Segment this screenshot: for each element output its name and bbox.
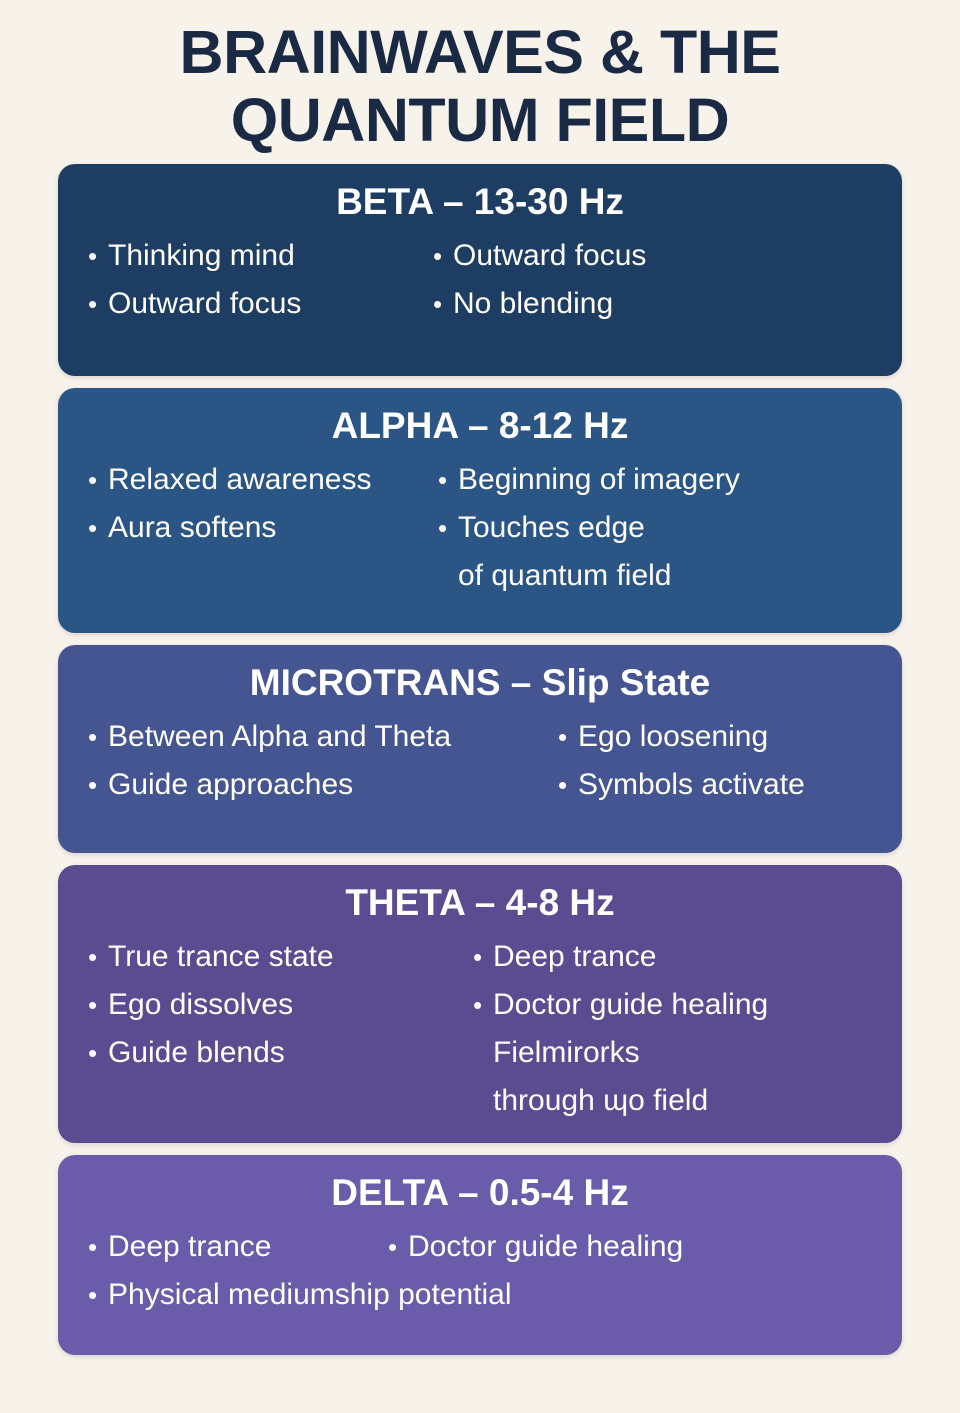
brainwave-card-alpha: ALPHA – 8-12 Hz • Relaxed awareness • Au… [58, 388, 902, 633]
bullet-icon: • [88, 761, 108, 809]
list-item-label: Guide blends [108, 1029, 473, 1077]
bullet-icon: • [558, 761, 578, 809]
infographic-root: BRAINWAVES & THE QUANTUM FIELD BETA – 13… [0, 0, 960, 1413]
card-columns-beta: • Thinking mind • Outward focus • Outwar… [70, 232, 890, 328]
card-column-right-theta: • Deep trance • Doctor guide healing Fie… [473, 933, 768, 1125]
list-item-label: Symbols activate [578, 761, 805, 809]
bullet-icon: • [433, 232, 453, 280]
bullet-icon: • [88, 713, 108, 761]
list-item-label: Thinking mind [108, 232, 433, 280]
list-item-label: True trance state [108, 933, 473, 981]
brainwave-card-list: BETA – 13-30 Hz • Thinking mind • Outwar… [58, 164, 902, 1413]
list-item-label: Aura softens [108, 504, 438, 552]
list-item: • True trance state [88, 933, 473, 981]
list-item: • Ego dissolves [88, 981, 473, 1029]
card-column-right-beta: • Outward focus • No blending [433, 232, 646, 328]
list-item: • Ego loosening [558, 713, 805, 761]
card-column-left-beta: • Thinking mind • Outward focus [88, 232, 433, 328]
list-item-label: Touches edge of quantum field [458, 504, 740, 600]
card-columns-microtrans: • Between Alpha and Theta • Guide approa… [70, 713, 890, 809]
brainwave-card-delta: DELTA – 0.5-4 Hz • Deep trance • Doctor … [58, 1155, 902, 1355]
list-item-label: Beginning of imagery [458, 456, 740, 504]
bullet-icon: • [438, 456, 458, 504]
bullet-icon: • [88, 981, 108, 1029]
bullet-icon: • [88, 232, 108, 280]
list-item: • Between Alpha and Theta [88, 713, 558, 761]
list-item: • Thinking mind [88, 232, 433, 280]
bullet-icon: • [433, 280, 453, 328]
list-item: • Guide approaches [88, 761, 558, 809]
list-item-label: Guide approaches [108, 761, 558, 809]
list-item: • Physical mediumship potential [70, 1271, 890, 1319]
bullet-icon: • [88, 1029, 108, 1077]
bullet-icon: • [88, 504, 108, 552]
card-heading-microtrans: MICROTRANS – Slip State [70, 659, 890, 707]
card-heading-delta: DELTA – 0.5-4 Hz [70, 1169, 890, 1217]
bullet-icon: • [473, 933, 493, 981]
page-title: BRAINWAVES & THE QUANTUM FIELD [58, 0, 902, 164]
list-item-label: Doctor guide healing [408, 1223, 683, 1271]
card-heading-alpha: ALPHA – 8-12 Hz [70, 402, 890, 450]
list-item-label: No blending [453, 280, 646, 328]
card-column-left-microtrans: • Between Alpha and Theta • Guide approa… [88, 713, 558, 809]
list-item: • Deep trance [473, 933, 768, 981]
list-item-label: Relaxed awareness [108, 456, 438, 504]
brainwave-card-beta: BETA – 13-30 Hz • Thinking mind • Outwar… [58, 164, 902, 376]
list-item: • Outward focus [88, 280, 433, 328]
list-item-label: Physical mediumship potential [108, 1271, 890, 1319]
bullet-icon: • [438, 504, 458, 552]
list-item: • Aura softens [88, 504, 438, 552]
list-item: • Beginning of imagery [438, 456, 740, 504]
list-item-label: Ego dissolves [108, 981, 473, 1029]
card-columns-delta: • Deep trance • Doctor guide healing [70, 1223, 890, 1271]
bullet-icon: • [473, 981, 493, 1029]
list-item-label: Outward focus [453, 232, 646, 280]
list-item: • Outward focus [433, 232, 646, 280]
list-item: • Symbols activate [558, 761, 805, 809]
list-item-label: Deep trance [108, 1223, 388, 1271]
card-heading-beta: BETA – 13-30 Hz [70, 178, 890, 226]
list-item: • Relaxed awareness [88, 456, 438, 504]
list-item-note-label: Fielmirorks through ɰo field [493, 1029, 768, 1125]
card-column-left-theta: • True trance state • Ego dissolves • Gu… [88, 933, 473, 1125]
list-item-label: Deep trance [493, 933, 768, 981]
card-columns-alpha: • Relaxed awareness • Aura softens • Beg… [70, 456, 890, 600]
bullet-icon: • [388, 1223, 408, 1271]
bullet-icon: • [88, 933, 108, 981]
list-item: • Deep trance [88, 1223, 388, 1271]
list-item: • Guide blends [88, 1029, 473, 1077]
list-item-label: Between Alpha and Theta [108, 713, 558, 761]
list-item-label: Ego loosening [578, 713, 805, 761]
bullet-icon: • [88, 280, 108, 328]
page-title-line-1: BRAINWAVES & THE [58, 18, 902, 86]
card-column-right-microtrans: • Ego loosening • Symbols activate [558, 713, 805, 809]
card-column-right-alpha: • Beginning of imagery • Touches edge of… [438, 456, 740, 600]
bullet-icon: • [558, 713, 578, 761]
list-item: • Touches edge of quantum field [438, 504, 740, 600]
card-column-right-delta: • Doctor guide healing [388, 1223, 683, 1271]
list-item-label: Doctor guide healing [493, 981, 768, 1029]
list-item: • Doctor guide healing [388, 1223, 683, 1271]
page-title-line-2: QUANTUM FIELD [58, 86, 902, 154]
card-columns-theta: • True trance state • Ego dissolves • Gu… [70, 933, 890, 1125]
list-item: • No blending [433, 280, 646, 328]
list-item: • Doctor guide healing [473, 981, 768, 1029]
bullet-icon: • [88, 1223, 108, 1271]
brainwave-card-microtrans: MICROTRANS – Slip State • Between Alpha … [58, 645, 902, 853]
brainwave-card-theta: THETA – 4-8 Hz • True trance state • Ego… [58, 865, 902, 1143]
card-column-left-delta: • Deep trance [88, 1223, 388, 1271]
list-item-note: Fielmirorks through ɰo field [473, 1029, 768, 1125]
card-column-left-alpha: • Relaxed awareness • Aura softens [88, 456, 438, 600]
list-item-label: Outward focus [108, 280, 433, 328]
bullet-icon: • [88, 456, 108, 504]
card-heading-theta: THETA – 4-8 Hz [70, 879, 890, 927]
bullet-icon: • [88, 1271, 108, 1319]
